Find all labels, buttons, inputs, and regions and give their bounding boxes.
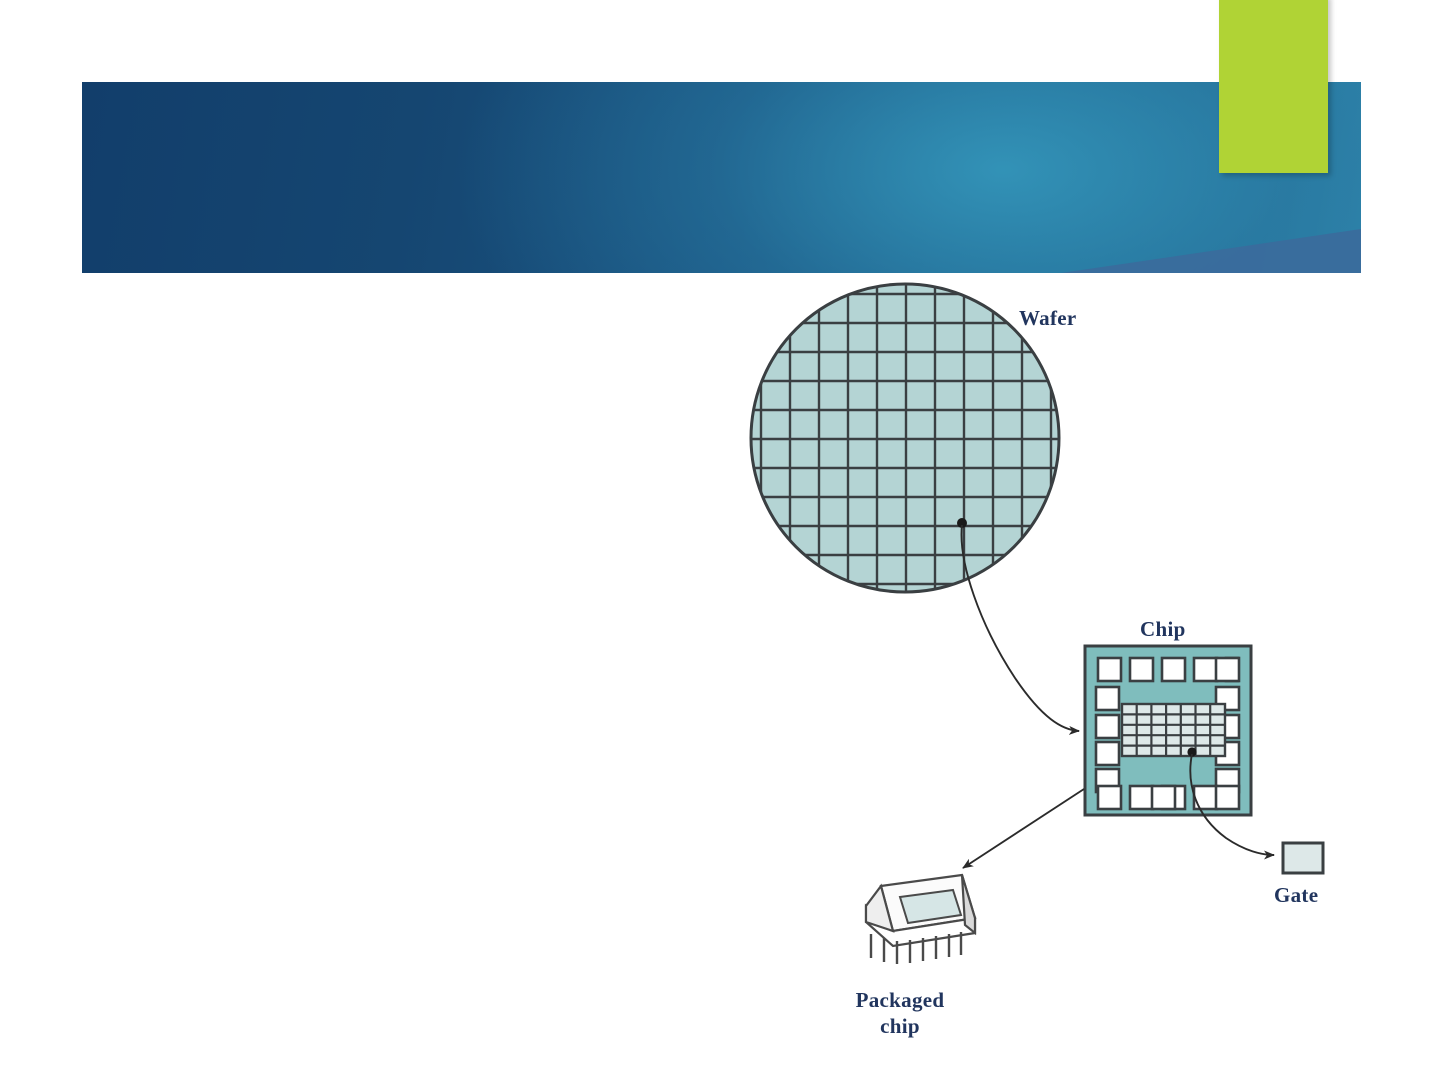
chip-pads-top	[1098, 658, 1239, 681]
package-pins	[871, 932, 961, 964]
label-packaged-chip: Packaged chip	[832, 988, 968, 1039]
chip-body	[1085, 646, 1251, 815]
chip-graphic	[1085, 646, 1251, 815]
wafer-disc	[751, 284, 1059, 592]
wafer-die-grid	[751, 284, 1059, 592]
arrow-chip-to-packaged-chip	[963, 789, 1084, 868]
wafer-marker-dot	[957, 518, 967, 528]
package-right-edge	[962, 875, 975, 933]
slide-canvas: Wafer Chip Gate Packaged chip	[0, 0, 1441, 1081]
wafer-graphic	[751, 284, 1059, 592]
label-gate: Gate	[1274, 883, 1318, 908]
accent-block-green	[1219, 0, 1328, 173]
packaged-chip-graphic	[866, 875, 975, 964]
label-chip: Chip	[1140, 617, 1186, 642]
label-packaged-chip-line2: chip	[832, 1014, 968, 1040]
label-packaged-chip-line1: Packaged	[832, 988, 968, 1014]
arrow-chip-to-gate	[1190, 754, 1274, 855]
wafer-outline	[751, 284, 1059, 592]
package-body-band	[866, 906, 975, 946]
header-banner	[82, 82, 1361, 273]
chip-gate-marker-dot	[1187, 747, 1196, 756]
package-die	[900, 890, 961, 923]
label-wafer: Wafer	[1019, 306, 1076, 331]
package-left-edge	[866, 886, 893, 931]
gate-box	[1283, 843, 1323, 873]
chip-pads-bottom	[1098, 786, 1239, 809]
package-top-face	[881, 875, 975, 931]
chip-inner-array	[1122, 704, 1225, 756]
banner-gradient	[82, 82, 1361, 273]
chip-pads-right	[1216, 687, 1239, 792]
arrow-wafer-to-chip	[962, 525, 1079, 731]
chip-pads-left	[1096, 687, 1119, 792]
